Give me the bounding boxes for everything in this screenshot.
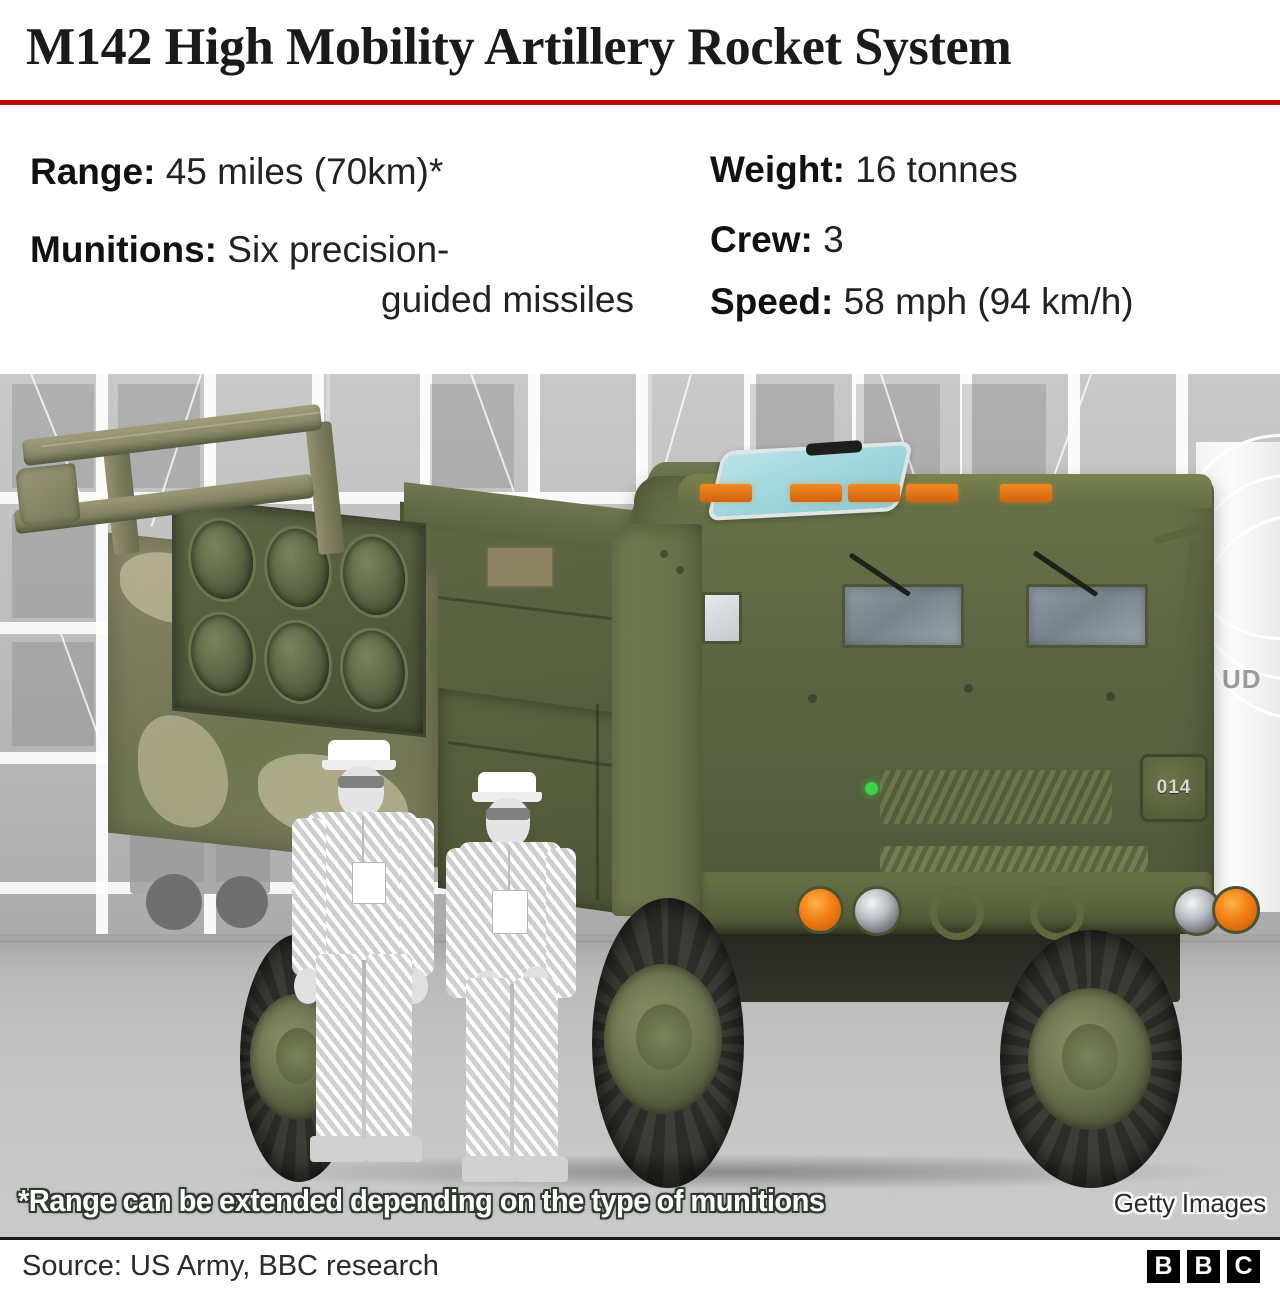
soldier-leg-right bbox=[366, 954, 412, 1144]
spec-value-speed: 58 mph (94 km/h) bbox=[844, 281, 1134, 322]
spec-row-weight: Weight: 16 tonnes bbox=[710, 148, 1018, 192]
rivet bbox=[964, 684, 973, 693]
bbc-logo-letter-1: B bbox=[1147, 1250, 1180, 1283]
soldier-boot-left bbox=[462, 1156, 516, 1182]
wheel-hub bbox=[276, 1028, 320, 1084]
page-title: M142 High Mobility Artillery Rocket Syst… bbox=[26, 16, 1238, 78]
soldier-leg-left bbox=[316, 954, 362, 1144]
loader-crane-upper-arm bbox=[22, 404, 323, 466]
himars-vehicle: 014 bbox=[0, 374, 1280, 1237]
wheel-hub bbox=[1062, 1024, 1118, 1090]
soldier-arm-left bbox=[292, 818, 326, 976]
cab-side-panel bbox=[612, 524, 702, 916]
turn-signal-right bbox=[1212, 886, 1260, 934]
soldier-id-badge bbox=[352, 862, 386, 904]
soldier-head bbox=[486, 798, 530, 848]
roof-marker-light bbox=[906, 484, 958, 502]
camo-patch bbox=[138, 712, 228, 831]
turn-signal-left bbox=[796, 886, 844, 934]
spec-value-munitions-line2: guided missiles bbox=[30, 278, 634, 322]
himars-photo: UD bbox=[0, 374, 1280, 1237]
soldier-cap bbox=[478, 772, 536, 794]
tow-hook-left bbox=[930, 886, 984, 940]
spec-label-crew: Crew: bbox=[710, 219, 813, 260]
spec-label-munitions: Munitions: bbox=[30, 229, 217, 270]
soldier-sunglasses bbox=[486, 808, 530, 820]
spec-block: Range: 45 miles (70km)* Munitions: Six p… bbox=[0, 112, 1280, 370]
soldier-lanyard bbox=[508, 846, 510, 892]
spec-value-range: 45 miles (70km)* bbox=[166, 151, 444, 192]
roof-marker-light bbox=[700, 484, 752, 502]
deck-data-plate bbox=[486, 546, 554, 588]
rivet bbox=[676, 566, 684, 574]
wheel-hub bbox=[636, 1004, 692, 1070]
rocket-tube bbox=[343, 628, 405, 713]
spec-row-crew: Crew: 3 bbox=[710, 218, 844, 262]
deck-panel-line bbox=[596, 704, 599, 900]
bbc-logo: B B C bbox=[1147, 1250, 1260, 1283]
spec-label-speed: Speed: bbox=[710, 281, 833, 322]
status-indicator-light bbox=[865, 782, 878, 795]
source-line: Source: US Army, BBC research bbox=[22, 1248, 439, 1284]
soldier-arm-left bbox=[446, 848, 476, 998]
spec-value-munitions: Six precision- bbox=[227, 229, 449, 270]
rocket-tube bbox=[191, 518, 253, 603]
cab-vent-grille-upper bbox=[880, 770, 1112, 824]
spec-row-range: Range: 45 miles (70km)* bbox=[30, 150, 443, 194]
soldier-cap bbox=[328, 740, 390, 762]
bbc-logo-letter-3: C bbox=[1227, 1250, 1260, 1283]
roof-marker-light bbox=[1000, 484, 1052, 502]
soldier-id-badge bbox=[492, 890, 528, 934]
rivet bbox=[1106, 692, 1115, 701]
rocket-tube bbox=[191, 612, 253, 697]
roof-marker-light bbox=[790, 484, 842, 502]
photo-credit: Getty Images bbox=[1114, 1188, 1266, 1219]
windshield-right bbox=[1026, 584, 1148, 648]
rocket-tube bbox=[343, 534, 405, 619]
spec-row-speed: Speed: 58 mph (94 km/h) bbox=[710, 280, 1134, 324]
soldier-arm-right bbox=[546, 848, 576, 998]
soldier-sunglasses bbox=[338, 776, 384, 788]
headlamp-left bbox=[852, 886, 902, 936]
spec-label-weight: Weight: bbox=[710, 149, 845, 190]
vehicle-number-placard: 014 bbox=[1140, 754, 1208, 822]
soldier-lanyard bbox=[362, 816, 364, 864]
soldier-boot-right bbox=[366, 1136, 422, 1162]
soldier-boot-right bbox=[514, 1156, 568, 1182]
rivet bbox=[660, 550, 668, 558]
soldier-boot-left bbox=[310, 1136, 366, 1162]
spec-row-munitions: Munitions: Six precision- bbox=[30, 228, 449, 272]
rocket-tube-face bbox=[172, 497, 426, 738]
bbc-logo-letter-2: B bbox=[1187, 1250, 1220, 1283]
cab-side-window bbox=[702, 592, 742, 644]
spec-label-range: Range: bbox=[30, 151, 155, 192]
spec-value-crew: 3 bbox=[823, 219, 844, 260]
range-footnote: *Range can be extended depending on the … bbox=[18, 1182, 825, 1220]
soldier-arm-right bbox=[400, 818, 434, 976]
soldier-head bbox=[338, 766, 384, 818]
soldier-leg-left bbox=[466, 978, 510, 1164]
roof-marker-light bbox=[848, 484, 900, 502]
rocket-tube bbox=[267, 620, 329, 705]
spec-value-weight: 16 tonnes bbox=[855, 149, 1018, 190]
soldier-leg-right bbox=[514, 978, 558, 1164]
rivet bbox=[808, 694, 817, 703]
footer-divider-rule bbox=[0, 1237, 1280, 1240]
crane-hook-block bbox=[15, 463, 81, 527]
infographic-card: M142 High Mobility Artillery Rocket Syst… bbox=[0, 0, 1280, 1296]
header-accent-rule bbox=[0, 100, 1280, 105]
